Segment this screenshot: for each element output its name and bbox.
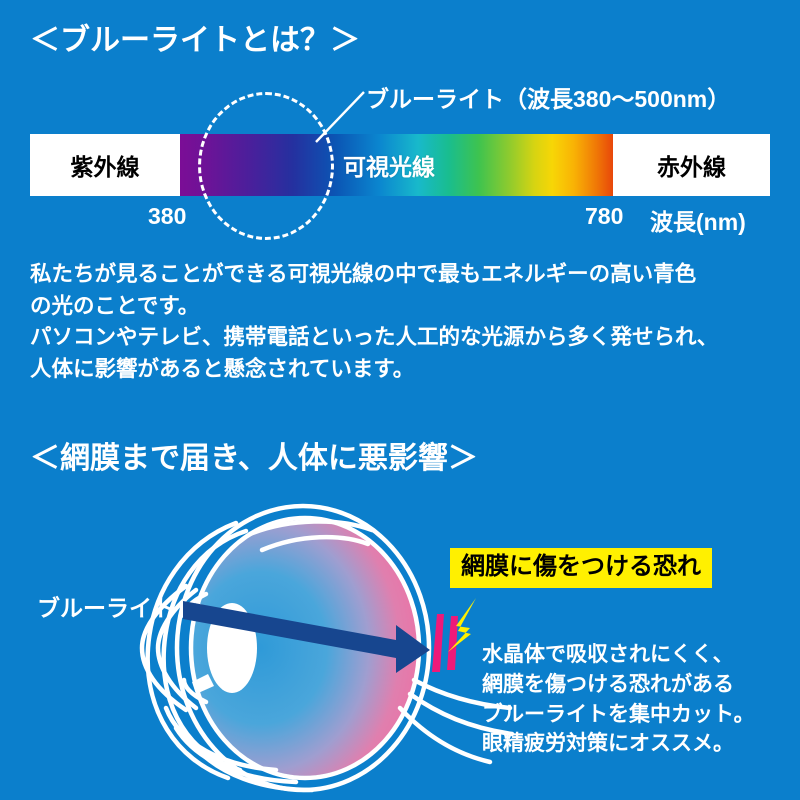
description-line: の光のことです。 [30, 291, 772, 323]
spectrum-band-label-ultraviolet: 紫外線 [30, 134, 180, 196]
axis-label-380: 380 [148, 203, 186, 230]
retina-damage-marks [432, 614, 458, 672]
page-title-blue-light: ＜ブルーライトとは？＞ [30, 26, 360, 56]
axis-label-780: 780 [585, 203, 623, 230]
retina-description: 水晶体で吸収されにくく、 網膜を傷つける恐れがある ブルーライトを集中カット。 … [482, 640, 797, 759]
retina-description-line: ブルーライトを集中カット。 [482, 700, 797, 730]
spectrum-band-label-infrared: 赤外線 [613, 134, 770, 196]
retina-description-line: 網膜を傷つける恐れがある [482, 670, 797, 700]
callout-leader-line [300, 88, 370, 148]
section-title-retina: ＜網膜まで届き、人体に悪影響＞ [30, 444, 478, 474]
description-line: 私たちが見ることができる可視光線の中で最もエネルギーの高い青色 [30, 259, 772, 291]
description-line: 人体に影響があると懸念されています。 [30, 354, 772, 386]
spectrum-figure: 紫外線 可視光線 赤外線 [30, 134, 770, 196]
blue-light-range-caption: ブルーライト（波長380〜500nm） [366, 80, 730, 114]
blue-light-description: 私たちが見ることができる可視光線の中で最もエネルギーの高い青色 の光のことです。… [30, 259, 772, 385]
poster-canvas: ＜ブルーライトとは？＞ 紫外線 可視光線 赤外線 ブルーライト（波長380〜50… [0, 0, 800, 800]
retina-description-line: 水晶体で吸収されにくく、 [482, 640, 797, 670]
description-line: パソコンやテレビ、携帯電話といった人工的な光源から多く発せられ、 [30, 322, 772, 354]
blue-light-ray-label: ブルーライト [37, 589, 175, 623]
axis-unit-label: 波長(nm) [650, 203, 746, 237]
retina-damage-callout: 網膜に傷をつける恐れ [450, 548, 712, 588]
retina-description-line: 眼精疲労対策にオススメ。 [482, 729, 797, 759]
